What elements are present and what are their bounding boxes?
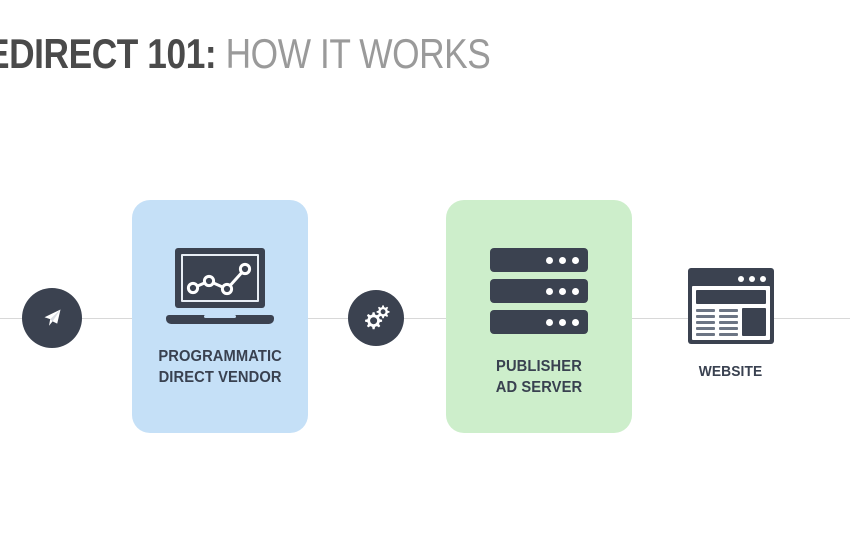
website-label: WEBSITE [699,362,763,382]
page-text-line [696,333,715,336]
server-status-dot [572,319,579,326]
browser-window-dot [749,276,755,282]
server-status-dot [572,288,579,295]
server-status-dot [559,257,566,264]
process-badge[interactable] [348,290,404,346]
server-unit [490,279,588,303]
server-rack-icon [490,248,588,334]
page-text-column [719,308,738,336]
server-unit [490,248,588,272]
page-text-line [696,315,715,318]
page-text-line [719,309,738,312]
laptop-analytics-icon [166,248,274,324]
flow-stage-source[interactable] [22,288,82,348]
paper-plane-icon [39,305,65,331]
adserver-card[interactable]: PUBLISHER AD SERVER [446,200,632,433]
page-text-line [696,309,715,312]
vendor-label-line-2: DIRECT VENDOR [158,367,281,388]
page-text-column [696,308,715,336]
page-hero-banner [696,290,766,304]
page-text-line [696,327,715,330]
adserver-label-line-1: PUBLISHER [496,356,582,377]
flow-stage-vendor[interactable]: PROGRAMMATIC DIRECT VENDOR [132,200,308,433]
flow-stage-website[interactable]: WEBSITE [688,268,774,382]
page-text-line [719,315,738,318]
browser-window-dot [760,276,766,282]
vendor-label-line-1: PROGRAMMATIC [158,346,281,367]
browser-window-dot [738,276,744,282]
server-status-dot [546,319,553,326]
laptop-trackpad-notch [204,315,236,318]
flow-stage-adserver[interactable]: PUBLISHER AD SERVER [446,200,632,433]
title-strong-text: DIRECT 101: [9,30,216,77]
adserver-label: PUBLISHER AD SERVER [496,356,582,398]
gears-icon [359,302,393,334]
flow-stage-process[interactable] [348,290,404,346]
page-title: EDIRECT 101: HOW IT WORKS [0,30,490,78]
browser-page-content [692,286,770,340]
vendor-label: PROGRAMMATIC DIRECT VENDOR [158,346,281,388]
server-status-dot [546,288,553,295]
server-status-dot [572,257,579,264]
adserver-label-line-2: AD SERVER [496,377,582,398]
browser-title-bar [692,272,770,286]
server-status-dot [559,288,566,295]
line-chart-icon [183,256,257,300]
page-text-line [696,321,715,324]
page-ad-block [742,308,766,336]
server-status-dot [546,257,553,264]
page-text-line [719,327,738,330]
website-group[interactable]: WEBSITE [688,268,774,382]
website-label-line-1: WEBSITE [699,362,763,382]
title-truncated-prefix: E [0,30,9,77]
page-body [696,308,766,336]
vendor-card[interactable]: PROGRAMMATIC DIRECT VENDOR [132,200,308,433]
source-badge[interactable] [22,288,82,348]
title-light-text: HOW IT WORKS [226,30,491,77]
laptop-screen-inner [181,254,259,302]
infographic-canvas: EDIRECT 101: HOW IT WORKS [0,0,850,550]
browser-window-icon [688,268,774,344]
laptop-screen [175,248,265,308]
server-status-dot [559,319,566,326]
server-unit [490,310,588,334]
page-text-line [719,321,738,324]
page-text-line [719,333,738,336]
